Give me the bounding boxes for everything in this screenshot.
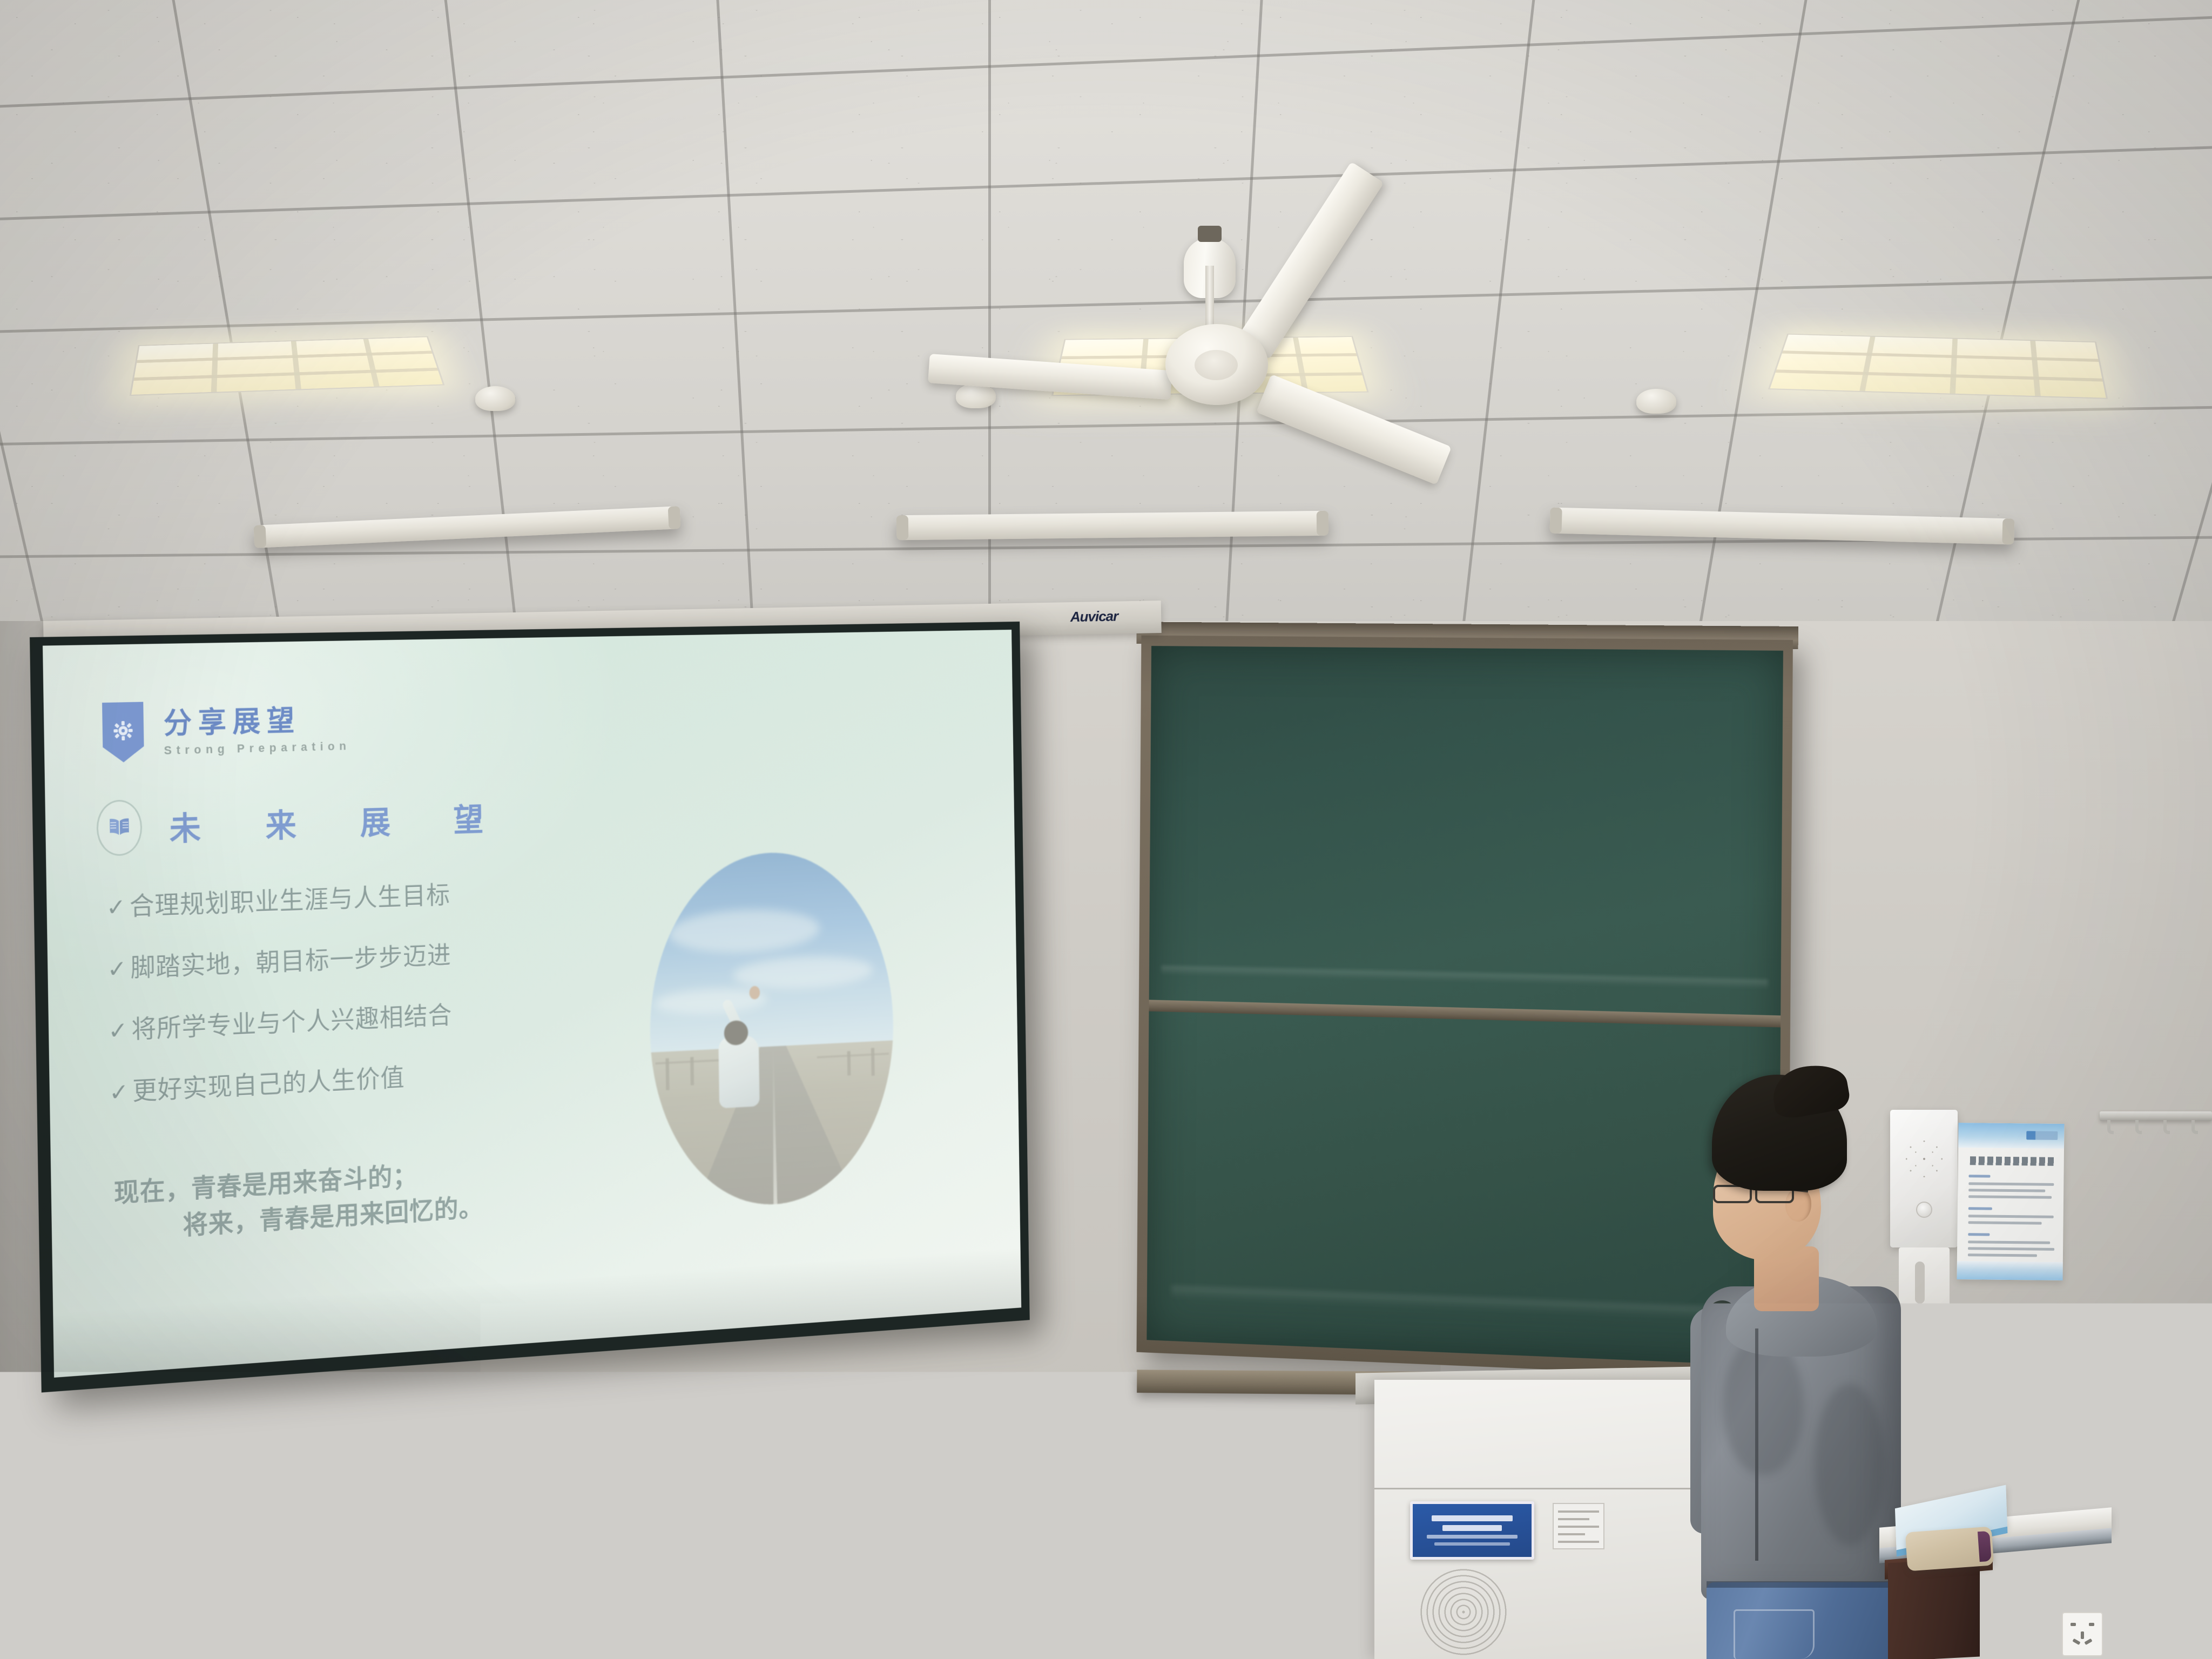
pencil-case	[1905, 1527, 1994, 1572]
poster-title-text	[1970, 1156, 2054, 1166]
chalkboard-middle-rail	[1149, 1000, 1781, 1028]
screen-brand-label: Auvicar	[1070, 608, 1118, 626]
ceiling-grid-line	[0, 1, 2212, 121]
ceiling-grid-line	[0, 134, 2212, 231]
slide-header-subtitle: Strong Preparation	[164, 739, 350, 757]
slide-bullet-list: ✓ 合理规划职业生涯与人生目标 ✓ 脚踏实地，朝目标一步步迈进 ✓ 将所学专业与…	[106, 870, 569, 1133]
bullet-text: 更好实现自己的人生价值	[132, 1057, 405, 1107]
photo-fence-post	[871, 1048, 875, 1076]
check-marker: ✓	[108, 1017, 129, 1045]
desk-leg	[1888, 1559, 1980, 1659]
poster-subhead	[1968, 1175, 1990, 1177]
slide-header: 分享展望 Strong Preparation	[102, 698, 351, 763]
wall-lower-panel	[0, 1415, 810, 1577]
air-vent-grille	[1418, 1566, 1509, 1658]
ceiling-grid-line	[704, 0, 767, 664]
oval-photo-road-person	[648, 849, 896, 1212]
fan-downrod	[1205, 266, 1214, 331]
check-marker: ✓	[107, 955, 127, 983]
ceiling-grid-line	[1660, 0, 1842, 664]
laminated-notice-poster	[1957, 1123, 2064, 1280]
wristwatch-icon	[1707, 1377, 1756, 1402]
poster-body-line	[1968, 1182, 2054, 1186]
photo-person-body	[718, 1035, 759, 1108]
ceiling-grid-line	[1884, 0, 2126, 664]
ceiling-grid-line	[988, 0, 991, 664]
speaker-grille-icon	[1903, 1138, 1945, 1180]
slide-section-title: 未 来 展 望	[169, 793, 510, 849]
list-item: ✓ 将所学专业与个人兴趣相结合	[108, 989, 568, 1047]
chalk-dust-upper	[1162, 966, 1768, 989]
slide-quote: 现在，青春是用来奋斗的； 将来，青春是用来回忆的。	[113, 1155, 483, 1249]
projector-screen[interactable]: 分享展望 Strong Preparation	[30, 622, 1030, 1393]
ceiling-grid-line	[421, 0, 544, 664]
photo-fence-post	[690, 1057, 694, 1085]
bullet-text: 脚踏实地，朝目标一步步迈进	[130, 934, 451, 984]
smoke-detector-right	[1636, 389, 1676, 414]
radiator-base	[0, 1626, 95, 1659]
smoke-detector-left	[475, 386, 515, 411]
bullet-text: 将所学专业与个人兴趣相结合	[131, 994, 453, 1046]
presenter-waistband	[1707, 1581, 1896, 1588]
wall-power-outlet-right	[2062, 1612, 2103, 1656]
photo-sky	[648, 849, 893, 1056]
spec-plate	[1553, 1503, 1604, 1549]
poster-body-line	[1968, 1195, 2052, 1199]
poster-body-line	[1968, 1253, 2037, 1257]
check-marker: ✓	[106, 894, 126, 922]
panel-light-right	[1768, 334, 2108, 399]
jeans-back-pocket	[1734, 1609, 1815, 1659]
ceiling-grid-line	[0, 0, 2212, 11]
chalk-dust-lower	[1171, 1286, 1739, 1322]
poster-footer-band	[1957, 1261, 2062, 1280]
check-marker: ✓	[109, 1078, 130, 1107]
classroom-photo-scene: Auvicar	[0, 0, 2212, 1659]
poster-logo	[2026, 1131, 2058, 1140]
photo-fence-post	[665, 1058, 669, 1090]
presenter-standing	[1674, 1075, 1901, 1659]
slide-header-text: 分享展望 Strong Preparation	[163, 698, 350, 758]
poster-body-line	[1968, 1221, 2042, 1224]
intercom-call-button[interactable]	[1916, 1202, 1932, 1218]
poster-subhead	[1968, 1233, 1990, 1236]
presenter-hair	[1712, 1075, 1847, 1191]
gear-icon	[111, 719, 135, 743]
open-book-icon	[96, 799, 143, 857]
poster-body-line	[1968, 1215, 2054, 1218]
ceiling-grid-line	[0, 400, 2212, 451]
photo-fence-post	[847, 1051, 851, 1076]
ceiling-grid-line	[1436, 0, 1559, 664]
photo-person-hand	[749, 986, 760, 999]
presenter-zipper	[1755, 1328, 1758, 1561]
photo-person	[714, 1008, 761, 1108]
ceiling	[0, 0, 2212, 664]
poster-body-line	[1968, 1240, 2050, 1244]
fan-motor-hub	[1165, 324, 1268, 405]
poster-body-line	[1968, 1247, 2054, 1251]
tube-light-center	[896, 511, 1328, 540]
ceiling-grid-line	[2108, 0, 2212, 664]
ceiling-grid-line	[0, 267, 2212, 341]
list-item: ✓ 更好实现自己的人生价值	[109, 1049, 569, 1108]
slide-header-title: 分享展望	[163, 705, 350, 739]
list-item: ✓ 脚踏实地，朝目标一步步迈进	[107, 930, 567, 985]
presentation-slide: 分享展望 Strong Preparation	[43, 630, 1021, 1378]
poster-body-line	[1968, 1189, 2045, 1192]
ceiling-tile-grid	[0, 0, 2212, 664]
poster-subhead	[1968, 1207, 1992, 1210]
gear-shield-icon	[102, 702, 144, 763]
wall-power-outlet-left	[1139, 1582, 1192, 1614]
wall-card-slot[interactable]	[1899, 1247, 1950, 1319]
screen-border: 分享展望 Strong Preparation	[30, 622, 1030, 1393]
blue-brand-label-plate	[1410, 1501, 1534, 1560]
wall-coat-hook-rail	[2100, 1111, 2212, 1121]
